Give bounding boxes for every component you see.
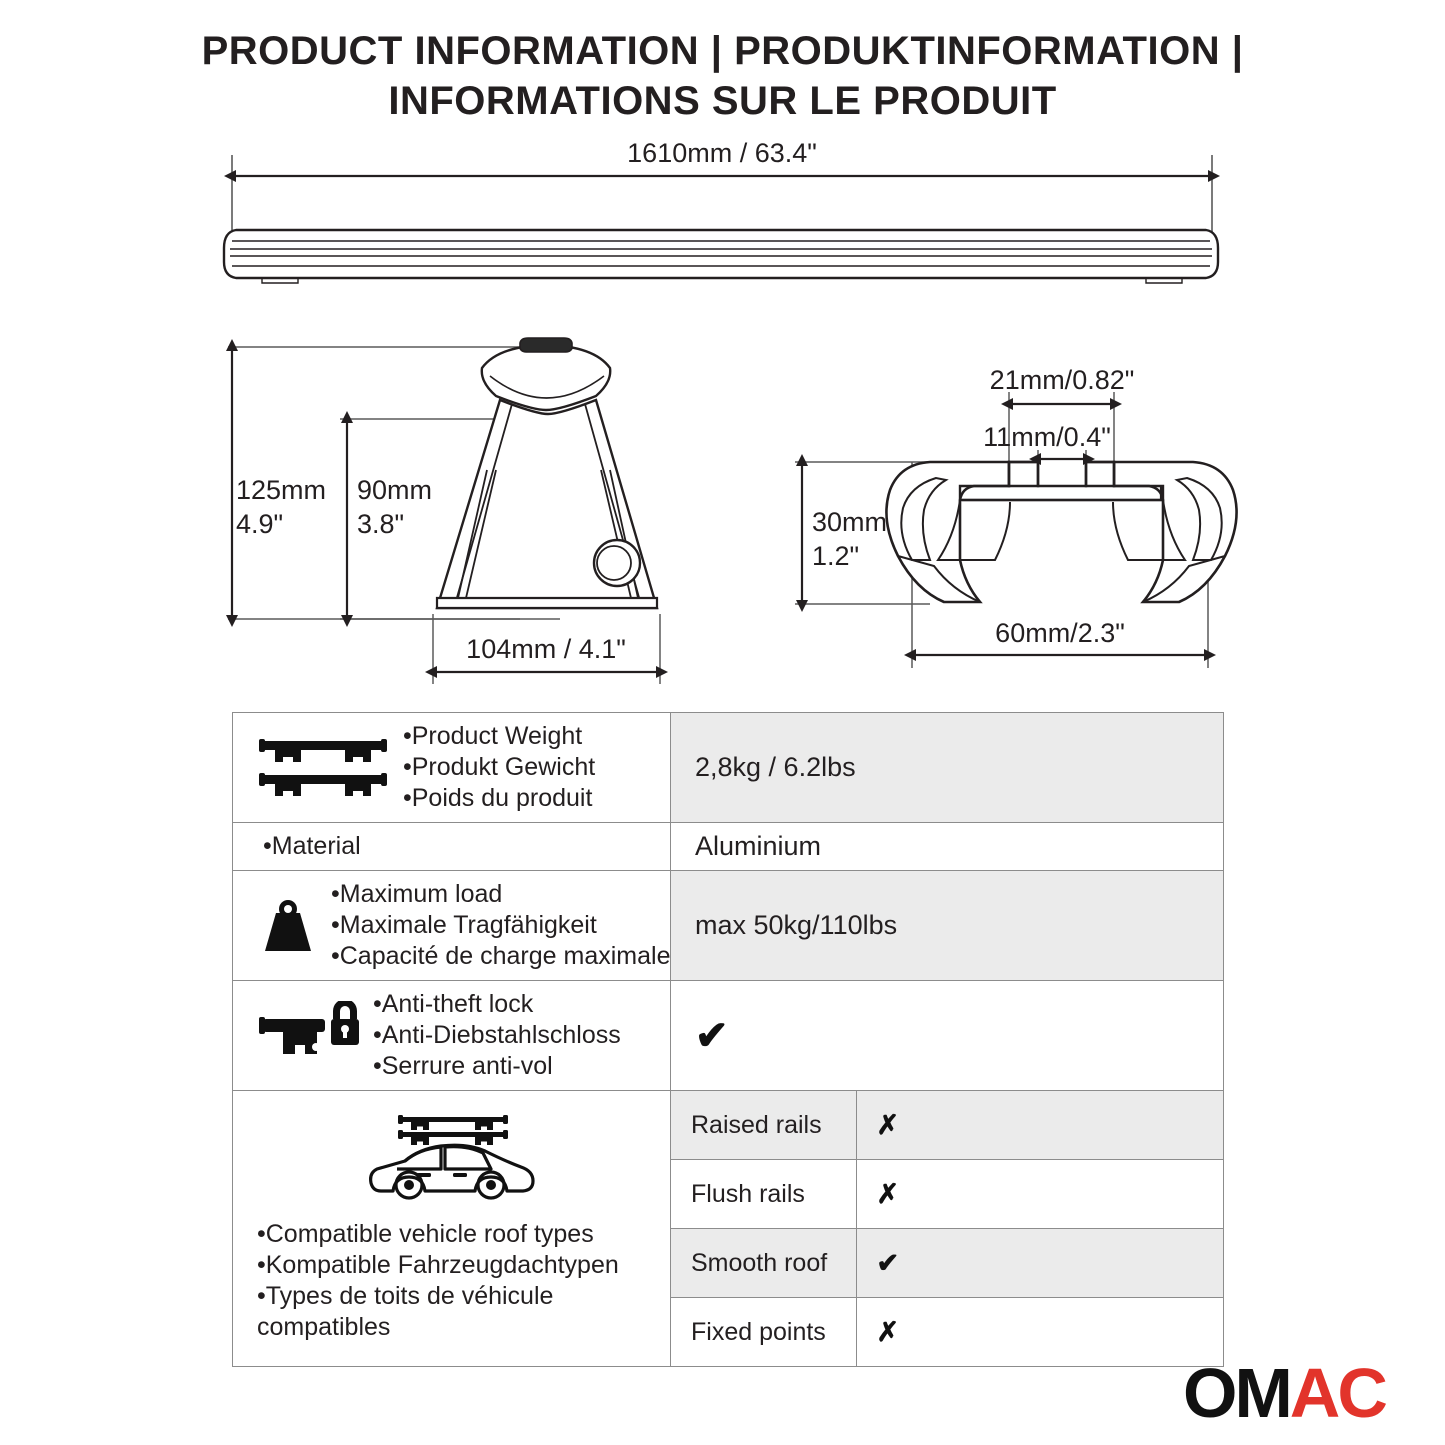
product-information-sheet: PRODUCT INFORMATION | PRODUKTINFORMATION… bbox=[0, 0, 1445, 1445]
compatibility-mark-flush-rails: ✗ bbox=[856, 1160, 1223, 1229]
compatibility-row-smooth-roof: Smooth roof ✔ bbox=[671, 1229, 1223, 1298]
table-row: •Anti-theft lock •Anti-Diebstahlschloss … bbox=[233, 981, 1224, 1091]
table-row: •Material Aluminium bbox=[233, 823, 1224, 871]
compatibility-name-raised-rails: Raised rails bbox=[671, 1091, 856, 1160]
crossbar-cross-section bbox=[886, 462, 1236, 602]
spec-value-max-load: max 50kg/110lbs bbox=[671, 910, 1223, 941]
dimension-height-90-label: 90mm 3.8" bbox=[357, 473, 432, 541]
compatibility-name-smooth-roof: Smooth roof bbox=[671, 1229, 856, 1298]
compatibility-labels: •Compatible vehicle roof types •Kompatib… bbox=[243, 1219, 619, 1343]
compatibility-row-flush-rails: Flush rails ✗ bbox=[671, 1160, 1223, 1229]
table-row: •Compatible vehicle roof types •Kompatib… bbox=[233, 1091, 1224, 1367]
omac-logo-ac: AC bbox=[1290, 1354, 1385, 1432]
compatibility-mark-fixed-points: ✗ bbox=[856, 1298, 1223, 1367]
spec-label-cell-lock: •Anti-theft lock •Anti-Diebstahlschloss … bbox=[233, 981, 671, 1091]
compatibility-mark-smooth-roof: ✔ bbox=[856, 1229, 1223, 1298]
compatibility-label-cell: •Compatible vehicle roof types •Kompatib… bbox=[233, 1091, 671, 1367]
spec-value-lock-checkmark: ✔ bbox=[671, 1016, 1223, 1056]
dimension-slot-21-label: 21mm/0.82" bbox=[932, 363, 1192, 397]
dimension-profile-width-label: 60mm/2.3" bbox=[910, 616, 1210, 650]
table-row: •Product Weight •Produkt Gewicht •Poids … bbox=[233, 713, 1224, 823]
crossbar-long-profile bbox=[224, 230, 1218, 278]
spec-label-lock: •Anti-theft lock •Anti-Diebstahlschloss … bbox=[373, 989, 621, 1082]
crossbars-icon bbox=[257, 733, 389, 803]
omac-logo-om: OM bbox=[1183, 1354, 1290, 1432]
table-row: •Maximum load •Maximale Tragfähigkeit •C… bbox=[233, 871, 1224, 981]
spec-label-material: •Material bbox=[263, 831, 361, 862]
compatibility-name-fixed-points: Fixed points bbox=[671, 1298, 856, 1367]
slot-11-extension-lines bbox=[1038, 450, 1086, 478]
spec-label-max-load: •Maximum load •Maximale Tragfähigkeit •C… bbox=[331, 879, 670, 972]
dimension-length-label: 1610mm / 63.4" bbox=[522, 136, 922, 170]
spec-value-material: Aluminium bbox=[671, 831, 1223, 862]
compatibility-table: Raised rails ✗ Flush rails ✗ bbox=[671, 1091, 1223, 1366]
spec-label-cell-weight: •Product Weight •Produkt Gewicht •Poids … bbox=[233, 713, 671, 823]
spec-value-weight: 2,8kg / 6.2lbs bbox=[671, 752, 1223, 783]
lock-icon bbox=[257, 1001, 361, 1071]
specification-table: •Product Weight •Produkt Gewicht •Poids … bbox=[232, 712, 1224, 1367]
compatibility-value-cell: Raised rails ✗ Flush rails ✗ bbox=[671, 1091, 1224, 1367]
dimension-slot-11-label: 11mm/0.4" bbox=[932, 420, 1162, 454]
dimension-profile-height-label: 30mm 1.2" bbox=[812, 505, 887, 573]
spec-label-weight: •Product Weight •Produkt Gewicht •Poids … bbox=[403, 721, 595, 814]
spec-label-cell-material: •Material bbox=[233, 823, 671, 871]
car-with-roof-rack-icon bbox=[357, 1111, 547, 1211]
spec-value-cell-material: Aluminium bbox=[671, 823, 1224, 871]
omac-logo: OMAC bbox=[1183, 1358, 1385, 1428]
weight-icon bbox=[255, 893, 321, 959]
roof-rack-foot-side-view bbox=[437, 338, 657, 608]
compatibility-mark-raised-rails: ✗ bbox=[856, 1091, 1223, 1160]
dimension-foot-width-label: 104mm / 4.1" bbox=[396, 632, 696, 666]
spec-value-cell-weight: 2,8kg / 6.2lbs bbox=[671, 713, 1224, 823]
dimension-height-125-label: 125mm 4.9" bbox=[236, 473, 326, 541]
technical-drawings bbox=[0, 0, 1445, 700]
compatibility-row-fixed-points: Fixed points ✗ bbox=[671, 1298, 1223, 1367]
compatibility-row-raised-rails: Raised rails ✗ bbox=[671, 1091, 1223, 1160]
spec-label-cell-max-load: •Maximum load •Maximale Tragfähigkeit •C… bbox=[233, 871, 671, 981]
compatibility-name-flush-rails: Flush rails bbox=[671, 1160, 856, 1229]
spec-value-cell-max-load: max 50kg/110lbs bbox=[671, 871, 1224, 981]
spec-value-cell-lock: ✔ bbox=[671, 981, 1224, 1091]
